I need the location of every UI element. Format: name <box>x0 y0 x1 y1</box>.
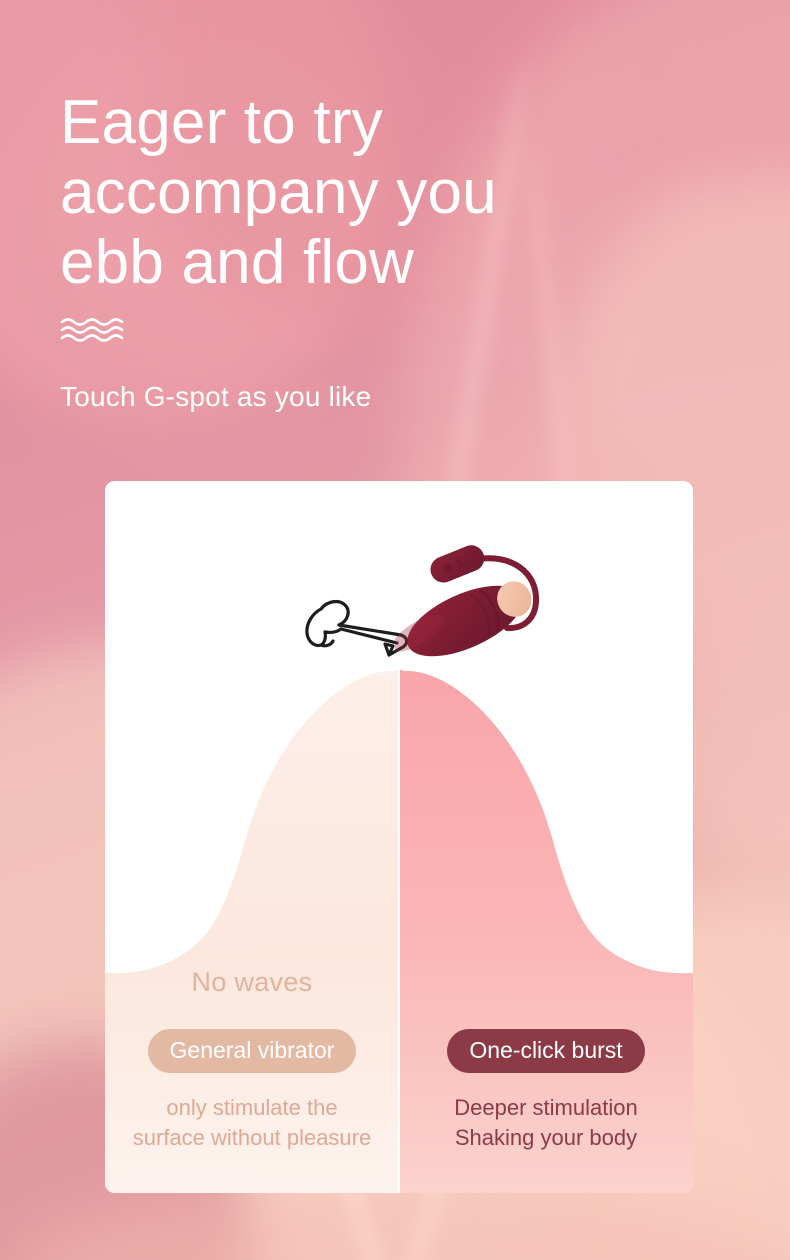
comparison-card: No waves General vibrator only stimulate… <box>105 481 693 1193</box>
right-description: Deeper stimulation Shaking your body <box>399 1093 693 1153</box>
status-badge-one-click-burst[interactable]: One-click burst <box>447 1029 644 1073</box>
status-badge-general-vibrator[interactable]: General vibrator <box>148 1029 357 1073</box>
right-badge-row: One-click burst <box>399 1029 693 1073</box>
egg-vibrator-icon <box>395 529 563 665</box>
page-subtitle: Touch G-spot as you like <box>60 380 700 414</box>
left-caption: No waves <box>105 967 399 998</box>
page-title: Eager to try accompany you ebb and flow <box>60 88 700 298</box>
promo-page: Eager to try accompany you ebb and flow … <box>0 0 790 1260</box>
left-badge-row: General vibrator <box>105 1029 399 1073</box>
wave-lines-icon <box>60 316 140 346</box>
header-block: Eager to try accompany you ebb and flow … <box>60 88 700 414</box>
left-description: only stimulate the surface without pleas… <box>105 1093 399 1153</box>
